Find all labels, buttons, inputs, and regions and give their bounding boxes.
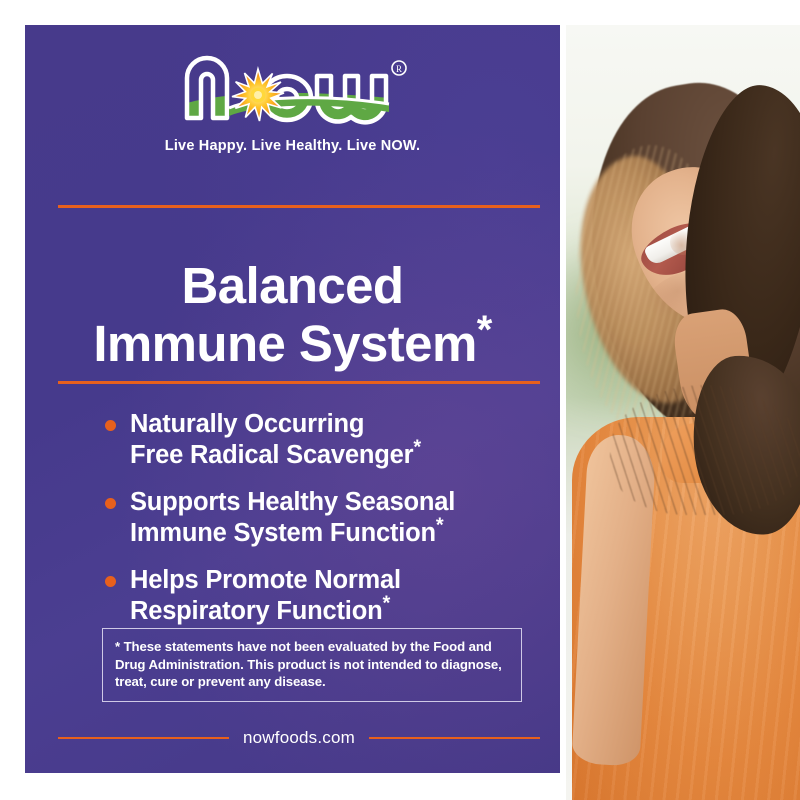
brand-logo[interactable]: R Live Happy. Live Healthy. Live NOW. [25,52,560,154]
info-panel: R Live Happy. Live Healthy. Live NOW. Ba… [25,25,560,773]
benefit-line-2-text: Free Radical Scavenger [130,441,413,469]
divider-middle [58,381,540,384]
benefits-list: Naturally Occurring Free Radical Scaveng… [105,409,560,643]
now-logo-icon: R [177,52,409,130]
fda-disclaimer: * These statements have not been evaluat… [102,628,522,702]
page-title-line-2: Immune System* [25,315,560,373]
benefit-asterisk: * [436,515,444,537]
benefit-line-2-text: Respiratory Function [130,597,382,625]
benefit-text: Helps Promote Normal Respiratory Functio… [130,565,401,627]
bullet-dot-icon [105,576,116,587]
page-title: Balanced Immune System* [25,257,560,373]
benefit-line-2: Free Radical Scavenger* [130,440,421,471]
page-title-line-2-text: Immune System [93,315,476,372]
benefit-asterisk: * [413,437,421,459]
bullet-dot-icon [105,420,116,431]
benefit-line-1: Supports Healthy Seasonal [130,487,455,518]
brand-tagline: Live Happy. Live Healthy. Live NOW. [25,138,560,154]
footer: nowfoods.com [58,728,540,748]
list-item: Helps Promote Normal Respiratory Functio… [105,565,560,627]
benefit-text: Naturally Occurring Free Radical Scaveng… [130,409,421,471]
benefit-line-2: Respiratory Function* [130,596,401,627]
bullet-dot-icon [105,498,116,509]
model-hair-wisps [610,385,800,515]
page-title-asterisk: * [477,308,492,352]
benefit-text: Supports Healthy Seasonal Immune System … [130,487,455,549]
footer-website-url[interactable]: nowfoods.com [229,728,369,748]
benefit-line-2: Immune System Function* [130,518,455,549]
footer-rule-left [58,737,229,739]
benefit-line-2-text: Immune System Function [130,519,436,547]
divider-top [58,205,540,208]
list-item: Supports Healthy Seasonal Immune System … [105,487,560,549]
footer-rule-right [369,737,540,739]
svg-text:R: R [395,64,401,74]
ad-canvas: R Live Happy. Live Healthy. Live NOW. Ba… [0,0,800,800]
list-item: Naturally Occurring Free Radical Scaveng… [105,409,560,471]
registered-mark-icon: R [392,61,406,75]
lifestyle-photo [566,25,800,800]
page-title-line-1: Balanced [25,257,560,315]
benefit-line-1: Helps Promote Normal [130,565,401,596]
benefit-line-1: Naturally Occurring [130,409,421,440]
benefit-asterisk: * [382,593,390,615]
